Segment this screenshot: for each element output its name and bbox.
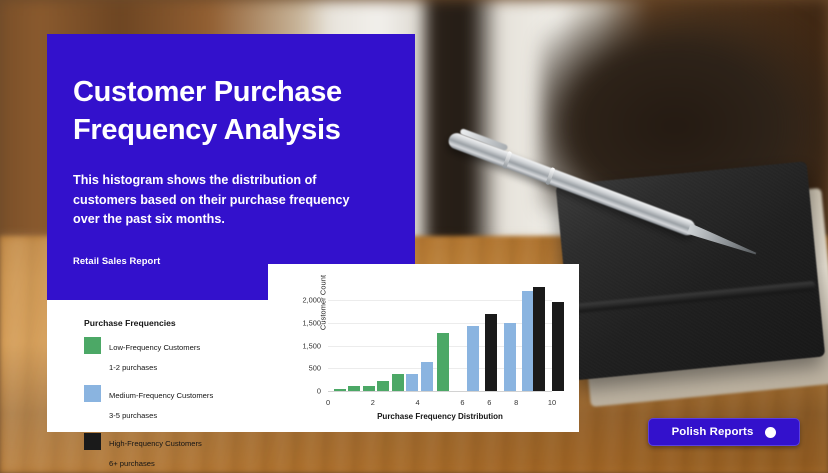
x-axis-tick-label: 6 (460, 398, 464, 407)
bar (504, 323, 516, 391)
y-axis-tick-label: 2,000 (303, 296, 322, 305)
bar (467, 326, 479, 391)
bar (485, 314, 497, 391)
x-axis-tick-label: 10 (548, 398, 556, 407)
legend-item-detail: 1-2 purchases (109, 363, 157, 372)
legend-swatch (84, 337, 101, 354)
legend-item-label: Medium-Frequency Customers (109, 391, 213, 400)
bar (392, 374, 404, 391)
circle-icon (765, 427, 776, 438)
polish-reports-label: Polish Reports (672, 426, 754, 438)
histogram-chart: Customer Count 05001,5001,5002,000 02466… (280, 276, 570, 428)
bar (406, 374, 418, 391)
bar (377, 381, 389, 391)
y-axis-tick-label: 1,500 (303, 341, 322, 350)
plot-area: 05001,5001,5002,000 (328, 282, 552, 392)
bar (533, 287, 545, 391)
y-axis-tick-label: 1,500 (303, 318, 322, 327)
legend-list: Low-Frequency Customers1-2 purchasesMedi… (84, 336, 274, 473)
x-axis-tick-label: 2 (371, 398, 375, 407)
legend-item-detail: 6+ purchases (109, 459, 155, 468)
legend-swatch (84, 385, 101, 402)
x-axis-line (328, 391, 552, 392)
legend-item: Low-Frequency Customers1-2 purchases (84, 336, 274, 377)
x-axis-tick-label: 0 (326, 398, 330, 407)
legend-item-label: High-Frequency Customers (109, 439, 202, 448)
x-axis-tick-label: 4 (416, 398, 420, 407)
legend-item-detail: 3-5 purchases (109, 411, 157, 420)
x-axis-ticks: 02466810 (328, 398, 552, 410)
bar-series (328, 282, 552, 391)
bar (552, 302, 564, 391)
pen-tip (687, 223, 758, 259)
x-axis-label: Purchase Frequency Distribution (328, 412, 552, 421)
page-title: Customer Purchase Frequency Analysis (73, 74, 381, 149)
page-subtitle: This histogram shows the distribution of… (73, 171, 363, 228)
title-panel: Customer Purchase Frequency Analysis Thi… (47, 34, 415, 300)
legend-item-label: Low-Frequency Customers (109, 343, 200, 352)
bar (421, 362, 433, 391)
y-axis-tick-label: 500 (309, 364, 321, 373)
legend-title: Purchase Frequencies (84, 318, 274, 328)
legend-swatch (84, 433, 101, 450)
bar (437, 333, 449, 391)
legend-item: High-Frequency Customers6+ purchases (84, 432, 274, 473)
y-axis-tick-label: 0 (317, 387, 321, 396)
chart-legend: Purchase Frequencies Low-Frequency Custo… (84, 318, 274, 473)
x-axis-tick-label: 8 (514, 398, 518, 407)
screenshot-stage: Customer Purchase Frequency Analysis Thi… (0, 0, 828, 473)
legend-item: Medium-Frequency Customers3-5 purchases (84, 384, 274, 425)
x-axis-tick-label: 6 (487, 398, 491, 407)
polish-reports-button[interactable]: Polish Reports (648, 418, 800, 446)
